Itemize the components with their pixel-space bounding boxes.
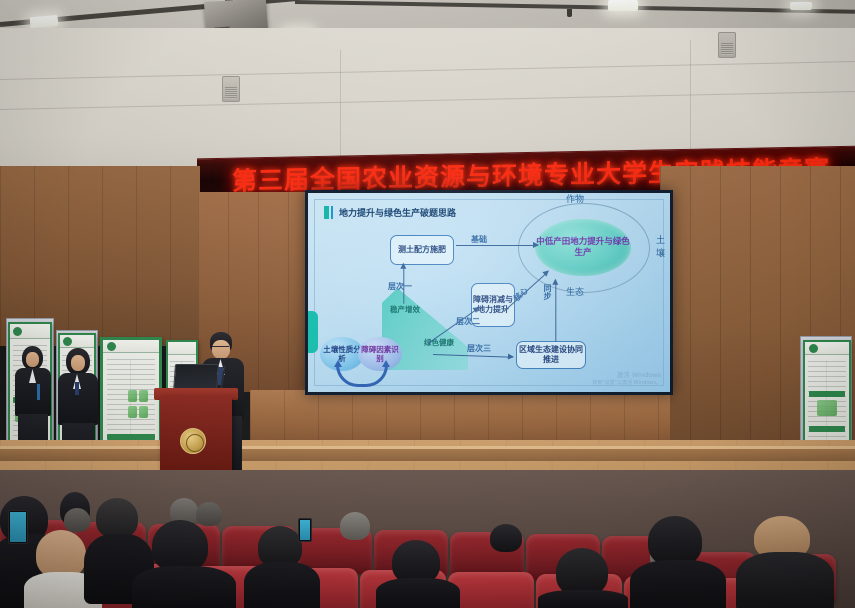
slide-node-soil-testing: 测土配方施肥 <box>390 235 454 265</box>
ceiling-light <box>608 0 638 11</box>
audience-shoulders <box>538 590 628 608</box>
audience-person <box>490 524 522 552</box>
triangle-label-1: 稳产增效 <box>390 305 420 315</box>
arrow-sync-to-center <box>555 280 556 342</box>
presentation-slide: 地力提升与绿色生产破题思路 中低产田地力提升与绿色生产 作物 土壤 生态 稳产增… <box>308 193 670 392</box>
wall-seam <box>340 50 341 170</box>
center-node-label: 中低产田地力提升与绿色生产 <box>535 237 631 258</box>
slide-title: 地力提升与绿色生产破题思路 <box>339 206 456 219</box>
arrow-label-sync: 同步 <box>543 285 552 302</box>
student-face <box>26 352 39 367</box>
student-lanyard <box>37 384 40 400</box>
arrow-label-base: 基础 <box>471 234 487 245</box>
poster-header <box>168 342 196 355</box>
audience-head <box>36 530 86 578</box>
poster-figure <box>139 390 148 402</box>
slide-node-regional-eco: 区域生态建设协同推进 <box>516 341 586 369</box>
watermark-line-1: 激活 Windows <box>592 371 661 379</box>
watermark-line-2: 转到"设置"以激活 Windows。 <box>592 380 661 387</box>
arrow-label-level1: 层次一 <box>388 281 412 292</box>
audience-phone[interactable] <box>298 518 312 542</box>
ceiling-sensor <box>567 9 572 17</box>
ring-label-crop: 作物 <box>566 193 584 205</box>
ceiling-light <box>790 2 812 10</box>
university-emblem-icon <box>180 428 206 454</box>
center-node-ellipse: 中低产田地力提升与绿色生产 <box>535 219 631 276</box>
slide-title-accent-bar2 <box>331 206 333 219</box>
wall-speaker <box>718 32 736 58</box>
audience-head <box>648 516 702 566</box>
audience-head <box>96 498 138 538</box>
arrow-base-to-center <box>456 245 538 246</box>
poster-logo-icon <box>13 327 22 336</box>
poster-section-band <box>809 391 846 397</box>
poster-figure <box>139 406 148 418</box>
wall-speaker <box>222 76 240 102</box>
audience-shoulders <box>132 566 236 608</box>
slide-title-accent-bar <box>324 206 329 219</box>
audience-person <box>64 508 90 532</box>
phone-screen <box>300 520 310 540</box>
arrow-label-level2: 层次二 <box>456 316 480 327</box>
poster-section-band <box>809 426 846 432</box>
student-face <box>71 355 85 371</box>
audience-phone[interactable] <box>8 510 28 544</box>
ring-label-soil: 土壤 <box>656 233 670 259</box>
audience-shoulders <box>244 562 320 608</box>
microphone-icon <box>224 360 230 367</box>
audience-head <box>556 548 608 596</box>
audience-shoulders <box>630 560 726 608</box>
poster-section-band <box>107 434 154 440</box>
audience-person <box>196 502 222 526</box>
student-tie <box>75 382 79 395</box>
audience-shoulders <box>736 552 834 608</box>
glasses-icon <box>212 346 229 350</box>
poster-figure <box>128 390 137 402</box>
projection-screen: 地力提升与绿色生产破题思路 中低产田地力提升与绿色生产 作物 土壤 生态 稳产增… <box>305 190 673 395</box>
audience-shoulders <box>376 578 460 608</box>
auditorium-seat[interactable] <box>448 572 534 608</box>
photo-scene: 第三届全国农业资源与环境专业大学生实践技能竞赛 地力提升与绿色生产破题思路 中低… <box>0 0 855 608</box>
arrow-label-level3: 层次三 <box>467 343 491 354</box>
audience-person <box>340 512 370 540</box>
windows-activation-watermark: 激活 Windows 转到"设置"以激活 Windows。 <box>592 371 661 386</box>
slide-corner-accent <box>308 311 318 353</box>
stage-front-face <box>0 449 855 461</box>
phone-screen <box>10 512 26 542</box>
poster-figure <box>817 400 836 416</box>
ring-label-ecology: 生态 <box>566 285 584 298</box>
wall-seam <box>690 40 691 160</box>
poster-figure <box>128 406 137 418</box>
audience-head <box>152 520 208 572</box>
poster-logo-icon <box>809 344 818 353</box>
